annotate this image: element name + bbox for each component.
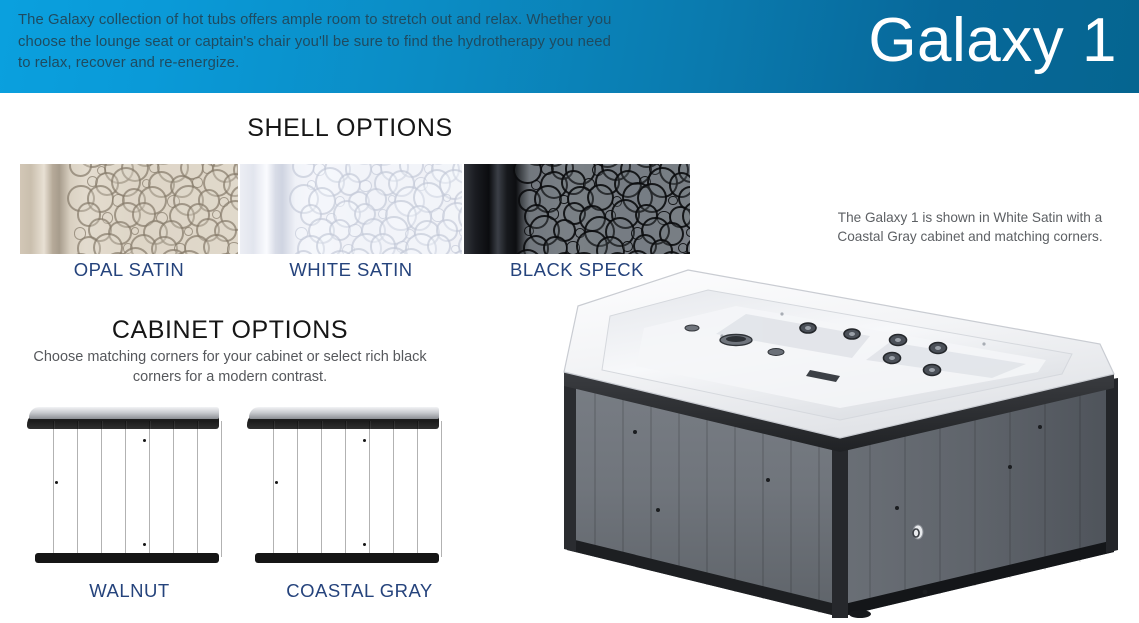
product-spec-sheet: The Galaxy collection of hot tubs offers… — [0, 0, 1139, 623]
gray-cabinet-shell-lip — [249, 407, 439, 419]
shell-option-label-opal-satin: OPAL SATIN — [20, 259, 238, 281]
header-banner: The Galaxy collection of hot tubs offers… — [0, 0, 1139, 93]
opal-satin-bubble-texture — [20, 164, 238, 254]
cabinet-option-label-coastal-gray: COASTAL GRAY — [247, 580, 472, 602]
walnut-cabinet-base — [35, 553, 219, 563]
tub-access-latch — [913, 525, 923, 539]
opal-satin-swatch[interactable] — [20, 164, 238, 254]
product-photo-caption: The Galaxy 1 is shown in White Satin wit… — [820, 208, 1120, 246]
cabinet-option-label-walnut: WALNUT — [27, 580, 232, 602]
hot-tub-illustration — [540, 262, 1139, 620]
shell-option-label-white-satin: WHITE SATIN — [240, 259, 462, 281]
galaxy-1-hot-tub-photo — [540, 262, 1139, 620]
header-intro-text: The Galaxy collection of hot tubs offers… — [18, 10, 618, 75]
walnut-cabinet-shell-lip — [29, 407, 219, 419]
gray-cabinet-slats — [253, 421, 439, 557]
shell-options-heading: SHELL OPTIONS — [0, 114, 700, 143]
gray-cabinet-body — [253, 421, 439, 557]
gray-cabinet-base — [255, 553, 439, 563]
page-title: Galaxy 1 — [868, 0, 1117, 84]
cabinet-options-subtext: Choose matching corners for your cabinet… — [20, 347, 440, 387]
coastal-gray-cabinet-image[interactable] — [247, 399, 439, 569]
cabinet-options-heading: CABINET OPTIONS — [0, 316, 460, 345]
walnut-cabinet-image[interactable] — [27, 399, 219, 569]
tub-foot-pad — [849, 610, 871, 618]
white-satin-bubble-texture — [240, 164, 462, 254]
black-speck-swatch[interactable] — [464, 164, 690, 254]
black-speck-bubble-texture — [464, 164, 690, 254]
white-satin-swatch[interactable] — [240, 164, 462, 254]
walnut-cabinet-body — [33, 421, 219, 557]
walnut-cabinet-slats — [33, 421, 219, 557]
